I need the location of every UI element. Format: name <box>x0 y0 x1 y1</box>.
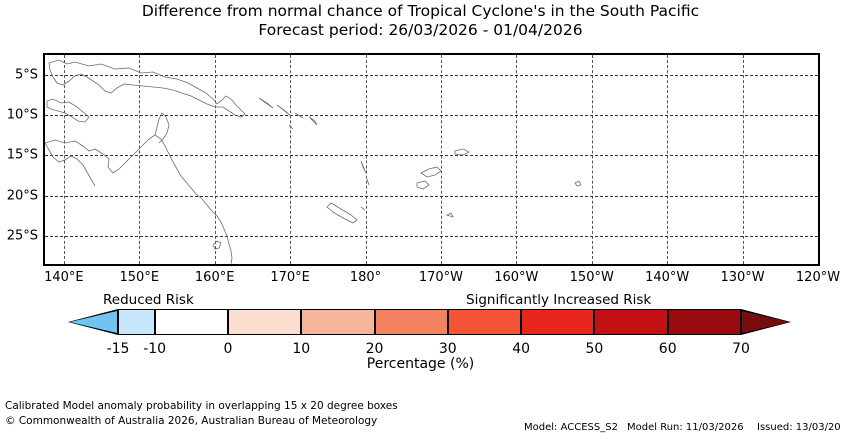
title-line-1: Difference from normal chance of Tropica… <box>0 2 841 21</box>
x-tick-label: 150°E <box>120 270 160 285</box>
x-tick-label: 140°W <box>645 270 689 285</box>
colorbar-axis-label: Percentage (%) <box>0 356 841 372</box>
gridline-vertical <box>139 55 140 264</box>
y-tick-label: 15°S <box>0 148 38 163</box>
colorbar-tick-label: 30 <box>439 341 457 357</box>
colorbar-tick-label: 40 <box>512 341 530 357</box>
colorbar-segment <box>228 309 301 335</box>
colorbar-segment <box>301 309 374 335</box>
footer-model: Model: ACCESS_S2 <box>524 422 618 433</box>
footer-model-run: Model Run: 11/03/2026 <box>627 422 744 433</box>
colorbar-increased-risk-label: Significantly Increased Risk <box>466 292 651 308</box>
x-tick-label: 150°W <box>570 270 614 285</box>
gridline-horizontal <box>45 196 818 197</box>
gridline-horizontal <box>45 75 818 76</box>
gridline-horizontal <box>45 155 818 156</box>
forecast-map-page: Difference from normal chance of Tropica… <box>0 0 841 439</box>
x-tick-label: 170°E <box>270 270 310 285</box>
gridline-vertical <box>592 55 593 264</box>
x-tick-label: 180° <box>350 270 381 285</box>
gridline-vertical <box>441 55 442 264</box>
y-tick-label: 10°S <box>0 108 38 123</box>
colorbar-segment <box>521 309 594 335</box>
colorbar-segment <box>375 309 448 335</box>
gridline-vertical <box>290 55 291 264</box>
x-tick-label: 120°W <box>796 270 840 285</box>
x-tick-label: 130°W <box>720 270 764 285</box>
x-tick-label: 160°W <box>494 270 538 285</box>
colorbar-tick-label: 50 <box>585 341 603 357</box>
y-tick-label: 25°S <box>0 228 38 243</box>
gridline-vertical <box>818 55 819 264</box>
footer-note: Calibrated Model anomaly probability in … <box>5 400 398 412</box>
gridline-vertical <box>743 55 744 264</box>
gridline-horizontal <box>45 236 818 237</box>
colorbar <box>68 309 791 335</box>
gridline-vertical <box>516 55 517 264</box>
colorbar-tick-label: 60 <box>659 341 677 357</box>
coastline-overlay <box>45 55 818 264</box>
colorbar-tick-label: 70 <box>732 341 750 357</box>
title-line-2: Forecast period: 26/03/2026 - 01/04/2026 <box>0 21 841 40</box>
x-tick-label: 140°E <box>44 270 84 285</box>
gridline-horizontal <box>45 115 818 116</box>
gridline-vertical <box>64 55 65 264</box>
colorbar-tick-label: -15 <box>107 341 130 357</box>
colorbar-tick-label: 20 <box>366 341 384 357</box>
gridline-vertical <box>667 55 668 264</box>
colorbar-tick-label: 0 <box>223 341 232 357</box>
colorbar-segment <box>155 309 228 335</box>
colorbar-segment <box>118 309 155 335</box>
colorbar-left-extend <box>70 311 117 333</box>
y-tick-label: 5°S <box>0 68 38 83</box>
colorbar-right-extend <box>742 311 789 333</box>
colorbar-segment <box>448 309 521 335</box>
page-title: Difference from normal chance of Tropica… <box>0 2 841 40</box>
gridline-vertical <box>215 55 216 264</box>
x-tick-label: 160°E <box>195 270 235 285</box>
colorbar-segment <box>594 309 667 335</box>
footer-issued: Issued: 13/03/2026 <box>757 422 841 433</box>
x-tick-label: 170°W <box>419 270 463 285</box>
y-tick-label: 20°S <box>0 188 38 203</box>
colorbar-segment <box>668 309 741 335</box>
colorbar-tick-label: 10 <box>292 341 310 357</box>
map-plot-area <box>43 53 820 266</box>
colorbar-reduced-risk-label: Reduced Risk <box>103 292 194 308</box>
colorbar-tick-label: -10 <box>143 341 166 357</box>
footer-copyright: © Commonwealth of Australia 2026, Austra… <box>5 415 377 427</box>
gridline-vertical <box>366 55 367 264</box>
